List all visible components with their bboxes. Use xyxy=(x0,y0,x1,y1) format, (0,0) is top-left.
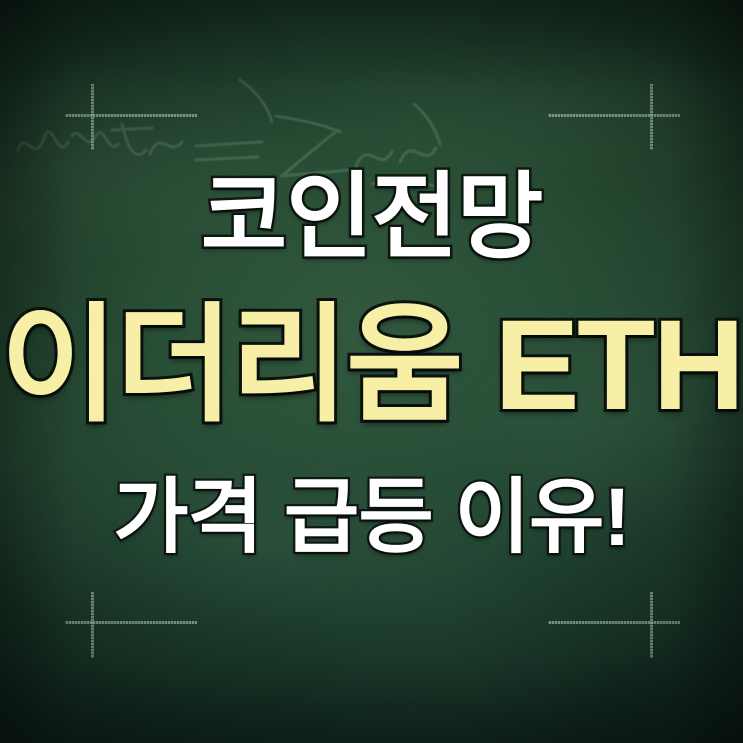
thumbnail-canvas: 코인전망 이더리움 ETH 가격 급등 이유! xyxy=(0,0,743,743)
crosshair-bottom-right xyxy=(0,0,743,743)
crosshair-horizontal-bar xyxy=(548,621,680,624)
crosshair-vertical-bar xyxy=(650,592,653,658)
